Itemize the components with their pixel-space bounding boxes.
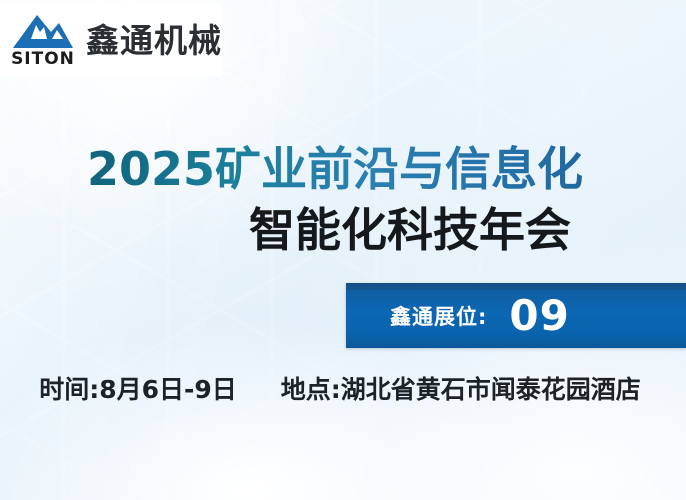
- event-details: 时间:8月6日-9日 地点:湖北省黄石市闻泰花园酒店: [0, 370, 686, 406]
- logo-latin-name: SITON: [11, 51, 75, 68]
- headline-line-2: 智能化科技年会: [0, 201, 670, 259]
- booth-number-banner: 鑫通展位: 09: [346, 283, 686, 348]
- booth-number: 09: [509, 295, 569, 337]
- booth-label: 鑫通展位:: [390, 301, 487, 331]
- poster-headline: 2025矿业前沿与信息化 智能化科技年会: [0, 141, 686, 259]
- event-venue: 地点:湖北省黄石市闻泰花园酒店: [281, 370, 641, 406]
- headline-line-1: 2025矿业前沿与信息化: [0, 141, 670, 197]
- logo-chinese-name: 鑫通机械: [86, 24, 222, 57]
- company-logo: SITON 鑫通机械: [0, 4, 222, 76]
- event-poster: SITON 鑫通机械 2025矿业前沿与信息化 智能化科技年会 鑫通展位: 09…: [0, 0, 686, 500]
- siton-mountain-logo-icon: SITON: [10, 12, 76, 68]
- event-date: 时间:8月6日-9日: [39, 370, 237, 406]
